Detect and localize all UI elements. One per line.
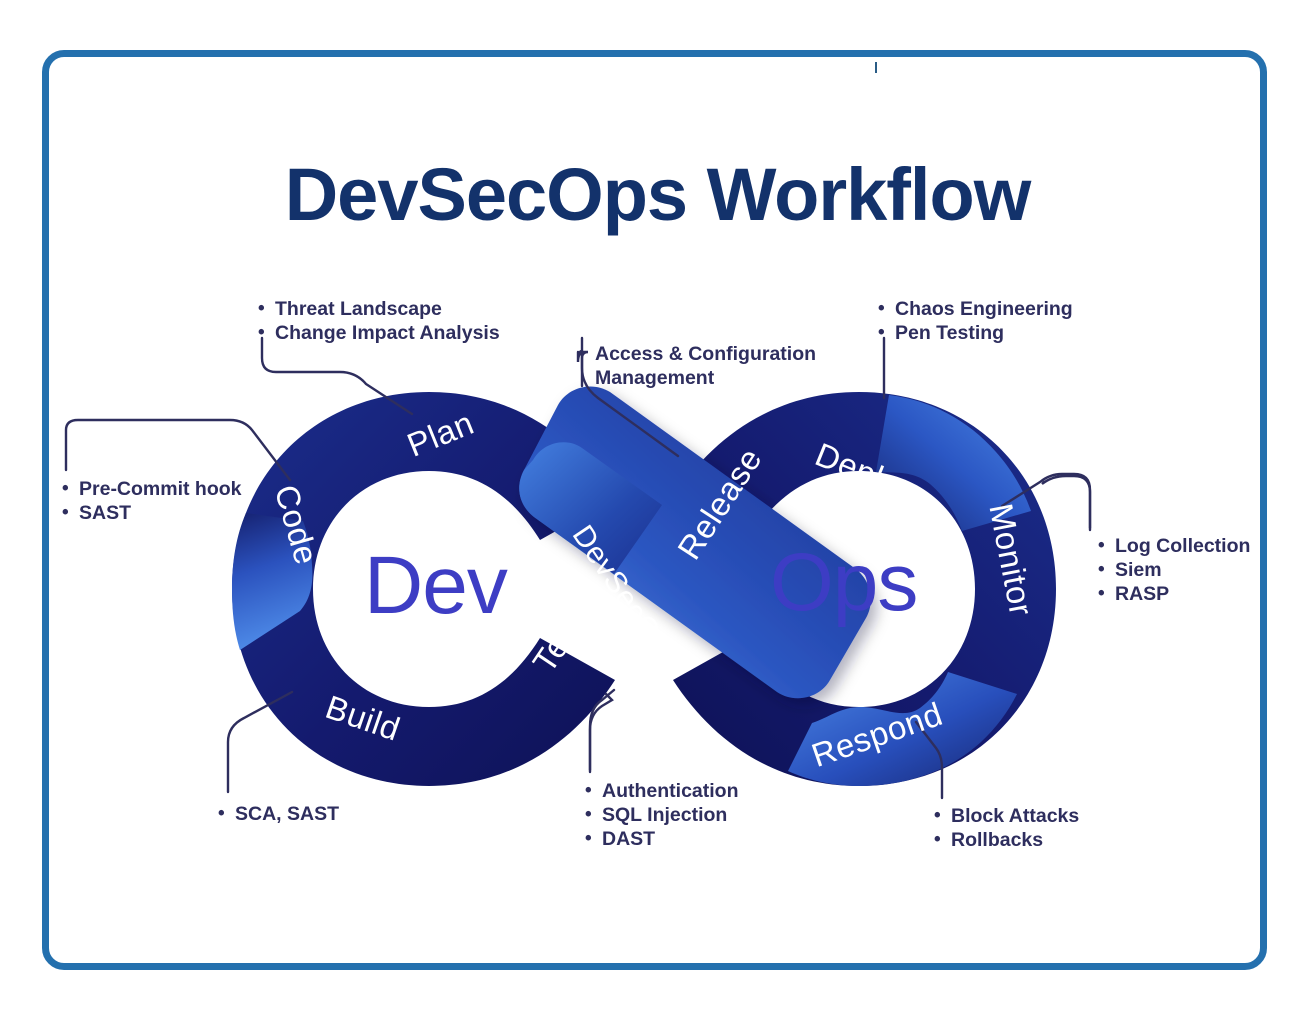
callout-item: Authentication bbox=[585, 779, 739, 803]
callout-item: Siem bbox=[1098, 558, 1250, 582]
callout-item: Change Impact Analysis bbox=[258, 321, 500, 345]
deploy-callout: Chaos Engineering Pen Testing bbox=[878, 297, 1073, 345]
callout-item-continuation: Management bbox=[578, 366, 828, 390]
callout-item: Pre-Commit hook bbox=[62, 477, 242, 501]
build-callout: SCA, SAST bbox=[218, 802, 339, 826]
callout-item: Block Attacks bbox=[934, 804, 1079, 828]
center-word-ops: Ops bbox=[770, 536, 917, 630]
respond-callout: Block Attacks Rollbacks bbox=[934, 804, 1079, 852]
callout-item: Access & Configuration bbox=[578, 342, 828, 366]
callout-item: Threat Landscape bbox=[258, 297, 500, 321]
callout-item: Log Collection bbox=[1098, 534, 1250, 558]
callout-item: Rollbacks bbox=[934, 828, 1079, 852]
callout-item: RASP bbox=[1098, 582, 1250, 606]
callout-item: SAST bbox=[62, 501, 242, 525]
release-callout: Access & Configuration Management bbox=[578, 342, 828, 390]
monitor-callout: Log Collection Siem RASP bbox=[1098, 534, 1250, 607]
test-callout: Authentication SQL Injection DAST bbox=[585, 779, 739, 852]
callout-item: DAST bbox=[585, 827, 739, 851]
callout-item: Pen Testing bbox=[878, 321, 1073, 345]
callout-item: SCA, SAST bbox=[218, 802, 339, 826]
diagram-canvas: DevSecOps Workflow bbox=[0, 0, 1315, 1030]
callout-item: Chaos Engineering bbox=[878, 297, 1073, 321]
plan-callout: Threat Landscape Change Impact Analysis bbox=[258, 297, 500, 345]
callout-item: SQL Injection bbox=[585, 803, 739, 827]
center-word-dev: Dev bbox=[364, 539, 507, 633]
code-callout: Pre-Commit hook SAST bbox=[62, 477, 242, 525]
